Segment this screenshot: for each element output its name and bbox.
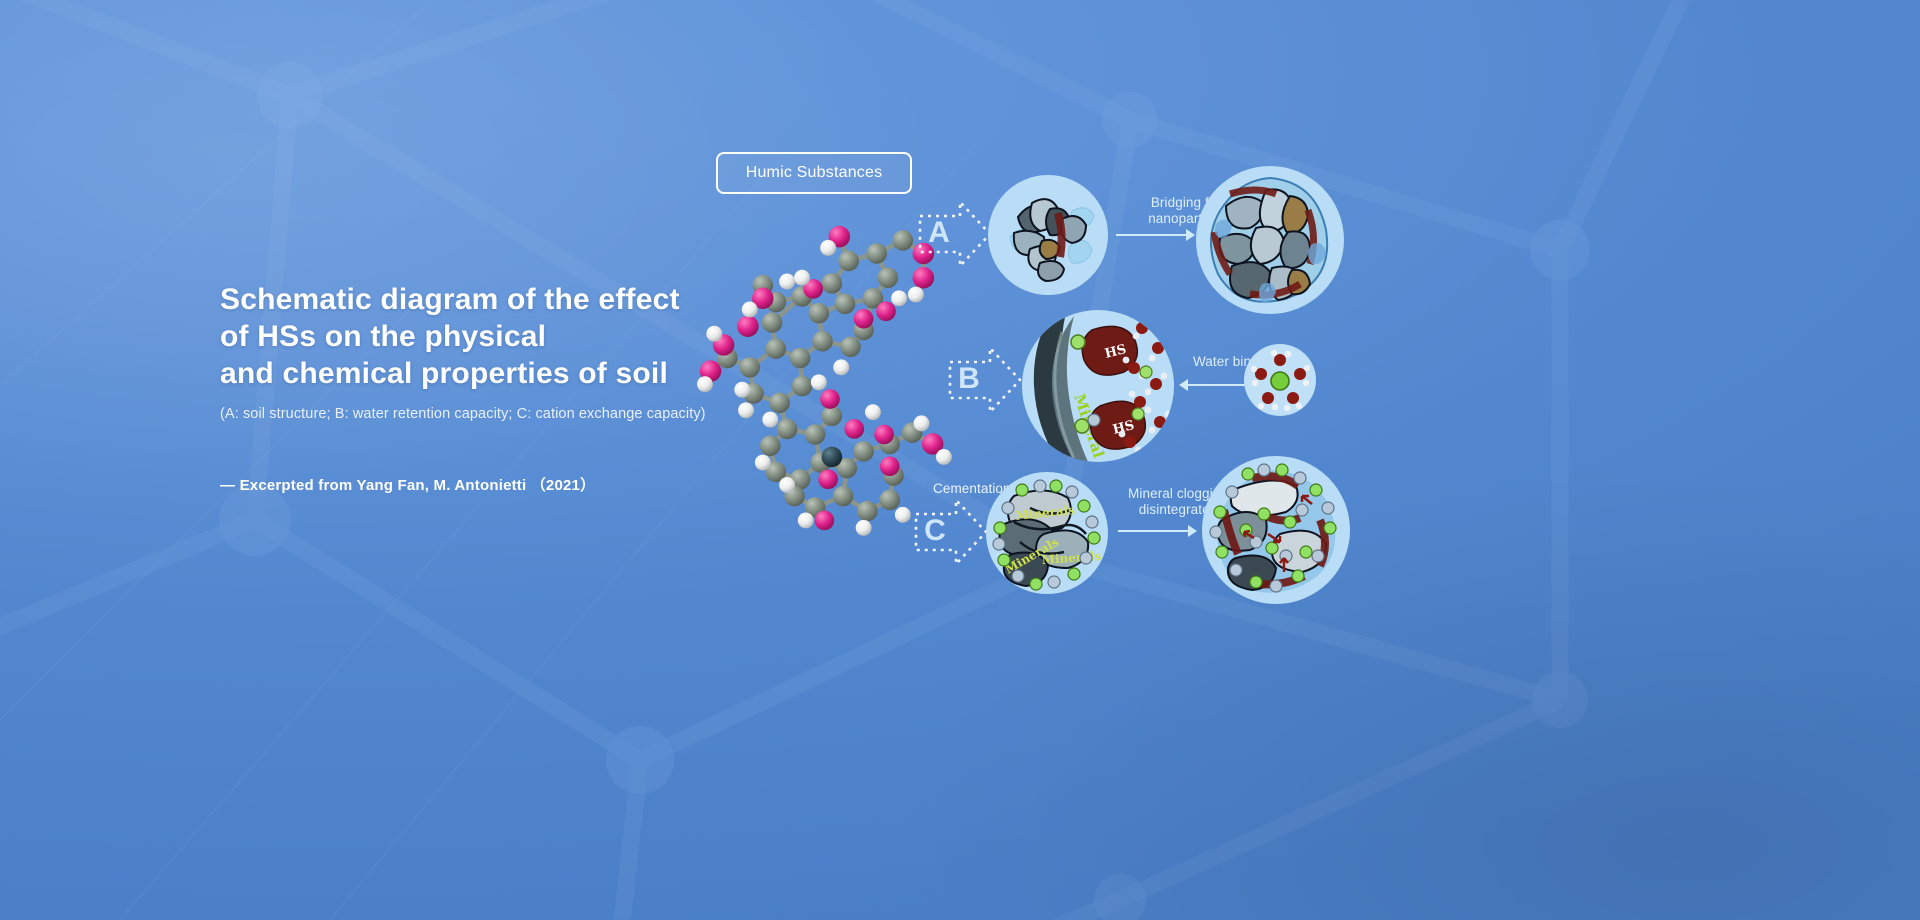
flow-arrowhead-a [1186,229,1195,241]
flow-line-c [1118,530,1188,532]
step-letter-b: B [946,344,992,414]
circle-loose-soil-particles [988,175,1108,295]
circle-cemented-minerals: Minerals Minerals Minerals [986,472,1108,594]
step-arrow-a: A [916,198,988,268]
circle-bound-soil-aggregate [1196,166,1344,314]
step-letter-a: A [916,198,962,268]
humic-substances-label-text: Humic Substances [746,164,883,182]
poster-canvas: Schematic diagram of the effect of HSs o… [0,0,1920,920]
step-arrow-c: C [912,496,984,566]
step-letter-c: C [912,496,958,566]
flow-line-a [1116,234,1186,236]
flow-arrowhead-b [1179,379,1188,391]
circle-hs-mineral-water-shell: Mineral HS HS [1022,310,1174,462]
circle-hydrated-cation [1244,344,1316,416]
step-arrow-b: B [946,344,1018,414]
flow-line-b [1188,384,1250,386]
flow-arrowhead-c [1188,525,1197,537]
circle-disintegrated-minerals [1202,456,1350,604]
humic-substances-label: Humic Substances [716,152,912,194]
